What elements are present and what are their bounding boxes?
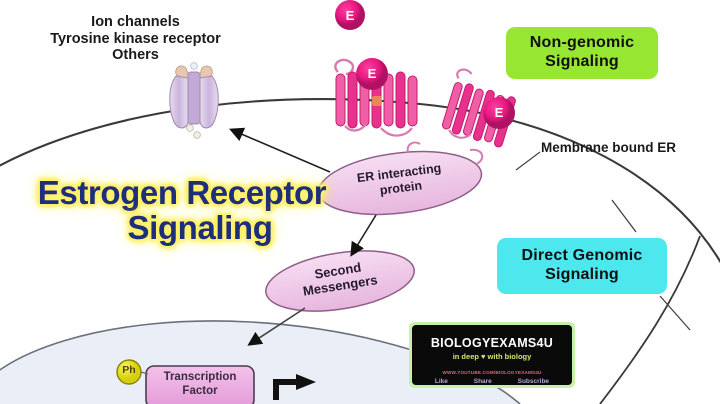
transcription-factor-label: Transcription Factor [148, 371, 252, 399]
title-line-1: Estrogen Receptor [38, 174, 326, 211]
callout-direct-genomic-signaling: Direct Genomic Signaling [497, 238, 667, 294]
membrane-bound-er-label: Membrane bound ER [541, 140, 676, 156]
callout-non-genomic-line1: Non-genomic [530, 34, 634, 53]
watermark-share-button[interactable]: Share [474, 378, 492, 385]
legend-line-2: Tyrosine kinase receptor [28, 31, 243, 48]
estrogen-ligand-top-label: E [341, 8, 359, 23]
arrow-erip-to-ionchannel [232, 130, 330, 172]
watermark-title: BIOLOGYEXAMS4U [412, 336, 572, 350]
receptor-legend: Ion channels Tyrosine kinase receptor Ot… [28, 14, 243, 64]
watermark-like-button[interactable]: Like [435, 378, 448, 385]
watermark-subscribe-button[interactable]: Subscribe [518, 378, 549, 385]
callout-genomic-line2: Signaling [545, 266, 619, 285]
tf-line-2: Factor [148, 385, 252, 399]
ion-channel-receptor [170, 63, 219, 139]
estrogen-ligand-right-label: E [490, 105, 508, 120]
watermark-logo: BIOLOGYEXAMS4U in deep ♥ with biology WW… [409, 322, 575, 388]
watermark-inner: BIOLOGYEXAMS4U in deep ♥ with biology WW… [412, 325, 572, 385]
legend-line-1: Ion channels [28, 14, 243, 31]
callout-non-genomic-line2: Signaling [545, 53, 619, 72]
estrogen-ligand-middle-label: E [363, 66, 381, 81]
legend-line-3: Others [28, 47, 243, 64]
page-title: Estrogen Receptor Signaling [6, 176, 358, 245]
watermark-subtitle: in deep ♥ with biology [412, 352, 572, 361]
callout-genomic-line1: Direct Genomic [521, 247, 642, 266]
tf-line-1: Transcription [148, 371, 252, 385]
diagram-canvas: Ion channels Tyrosine kinase receptor Ot… [0, 0, 720, 404]
watermark-url: WWW.YOUTUBE.COM/BIOLOGYEXAMS4U [412, 370, 572, 375]
title-line-2: Signaling [6, 211, 358, 246]
phosphate-badge-label: Ph [118, 364, 140, 376]
watermark-buttons: Like Share Subscribe [412, 378, 572, 385]
leader-line-membrane-bound-er [516, 152, 540, 170]
callout-non-genomic-signaling: Non-genomic Signaling [506, 27, 658, 79]
